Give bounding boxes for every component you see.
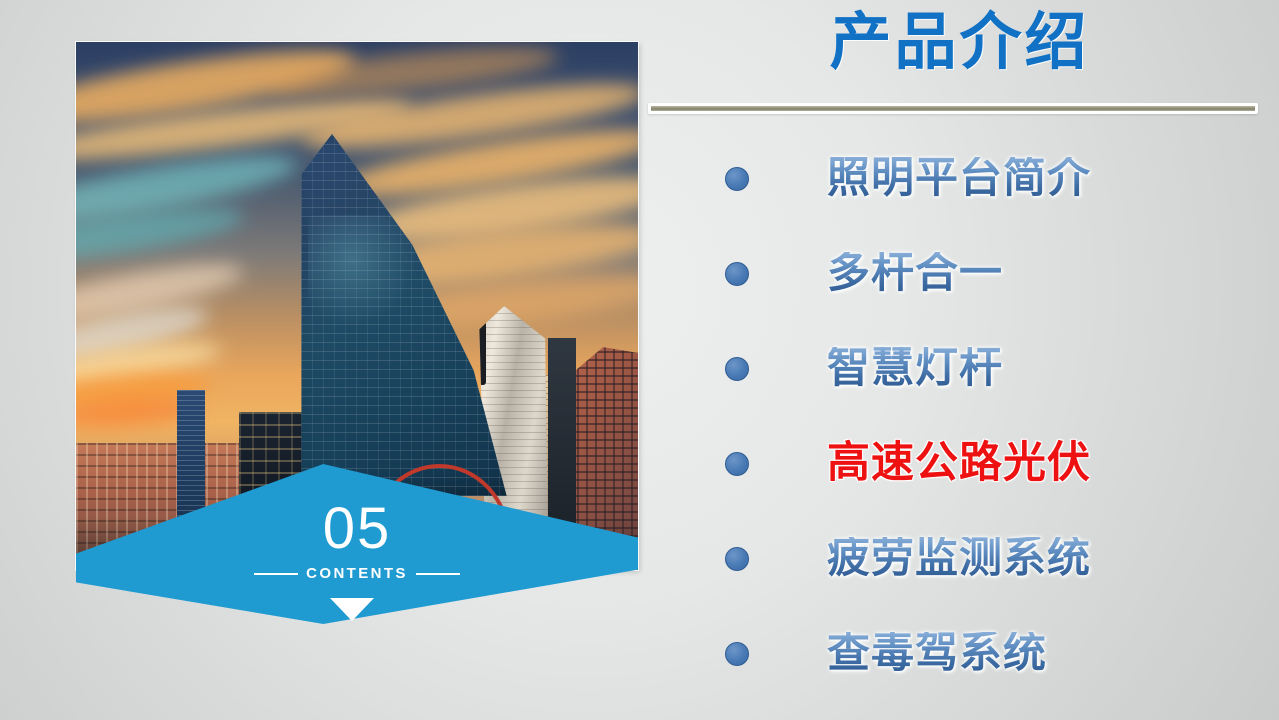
slide-canvas: 05 CONTENTS 产品介绍 照明平台简介 多杆合一 智慧灯杆 高速公路光伏… <box>0 0 1279 720</box>
list-item-label: 智慧灯杆 <box>827 347 1003 390</box>
bullet-dot-icon <box>725 452 749 476</box>
bullet-list: 照明平台简介 多杆合一 智慧灯杆 高速公路光伏 疲劳监测系统 查毒驾系统 <box>640 131 1279 701</box>
bullet-dot-icon <box>725 357 749 381</box>
list-item[interactable]: 疲劳监测系统 <box>640 511 1279 606</box>
bullet-dot-icon <box>725 642 749 666</box>
list-item-label: 疲劳监测系统 <box>827 537 1091 580</box>
list-item[interactable]: 智慧灯杆 <box>640 321 1279 416</box>
list-item-label: 查毒驾系统 <box>827 632 1047 675</box>
bullet-dot-icon <box>725 167 749 191</box>
contents-label: CONTENTS <box>306 565 408 582</box>
list-item[interactable]: 照明平台简介 <box>640 131 1279 226</box>
bullet-dot-icon <box>725 262 749 286</box>
rule-right <box>416 573 460 575</box>
contents-number: 05 <box>76 500 638 558</box>
list-item[interactable]: 多杆合一 <box>640 226 1279 321</box>
bullet-dot-icon <box>725 547 749 571</box>
title-divider <box>648 103 1258 114</box>
down-triangle-icon <box>330 598 374 621</box>
list-item[interactable]: 查毒驾系统 <box>640 606 1279 701</box>
rule-left <box>254 573 298 575</box>
page-title: 产品介绍 <box>640 4 1279 82</box>
list-item-label: 照明平台简介 <box>827 157 1091 200</box>
contents-label-row: CONTENTS <box>76 565 638 582</box>
list-item-label: 多杆合一 <box>827 252 1003 295</box>
list-item-highlighted[interactable]: 高速公路光伏 <box>640 416 1279 511</box>
list-item-label: 高速公路光伏 <box>827 442 1091 485</box>
